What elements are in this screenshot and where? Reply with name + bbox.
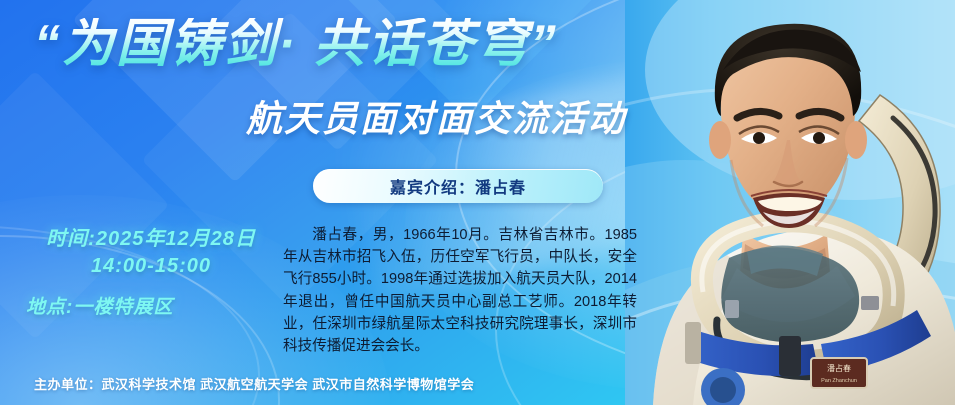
page-title: “为国铸剑· 共话苍穹”: [34, 18, 558, 70]
guest-intro-label: 嘉宾介绍：潘占春: [390, 174, 526, 198]
svg-text:Pan Zhanchun: Pan Zhanchun: [821, 378, 857, 384]
guest-bio: 潘占春，男，1966年10月。吉林省吉林市。1985年从吉林市招飞入伍，历任空军…: [283, 224, 637, 357]
event-location: 地点:一楼特展区: [26, 292, 173, 319]
astronaut-portrait: 潘占春 Pan Zhanchun: [625, 0, 955, 405]
guest-intro-badge: 嘉宾介绍：潘占春: [313, 169, 603, 203]
svg-text:潘占春: 潘占春: [827, 363, 851, 373]
organizers-footer: 主办单位：武汉科学技术馆 武汉航空航天学会 武汉市自然科学博物馆学会: [34, 374, 474, 393]
event-time: 时间:2025年12月28日 14:00-15:00: [26, 226, 276, 280]
page-subtitle: 航天员面对面交流活动: [246, 101, 626, 137]
event-poster: 潘占春 Pan Zhanchun “为国铸剑· 共话苍穹” 航天员面对面交流活动…: [0, 0, 955, 405]
